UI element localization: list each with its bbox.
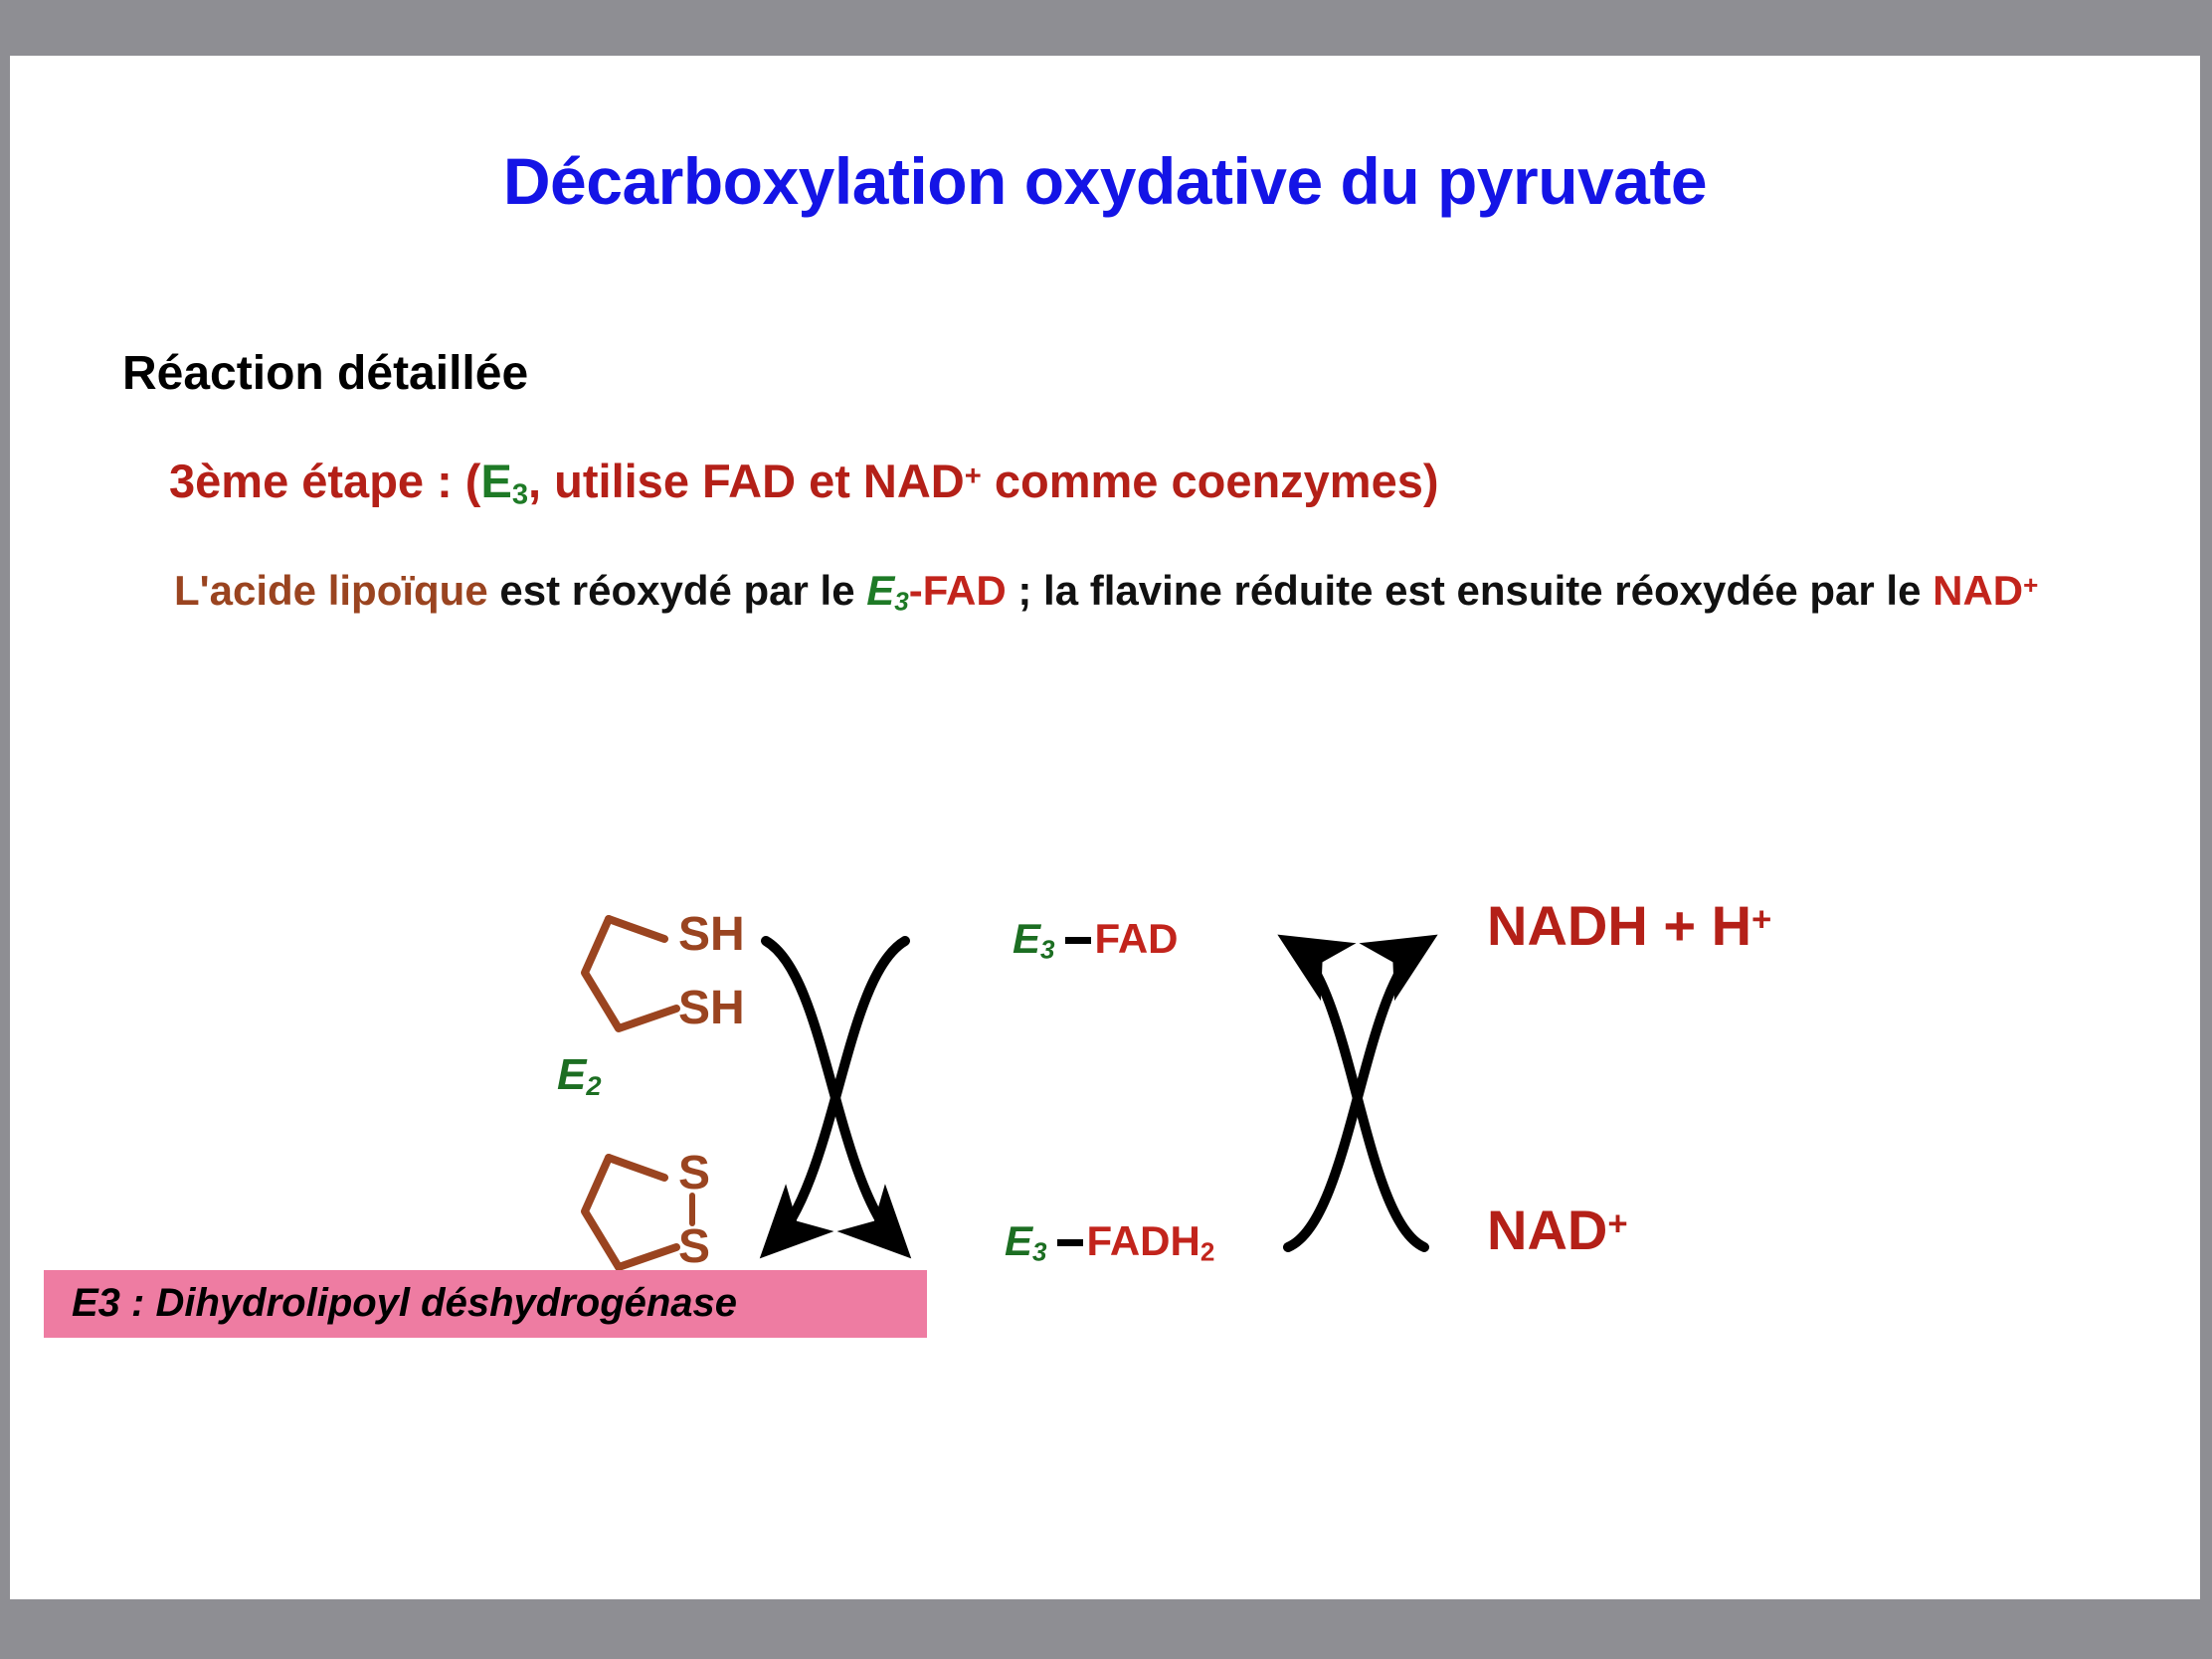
step-suffix: comme coenzymes) [982, 455, 1439, 507]
thiol-label-upper: SH [678, 907, 745, 962]
paragraph-fad: -FAD [909, 567, 1007, 614]
sulfur-label-lower: S [678, 1219, 710, 1274]
slide-canvas: Décarboxylation oxydative du pyruvate Ré… [10, 56, 2200, 1599]
paragraph-enzyme-letter: E [866, 567, 894, 614]
label-nad-text: NAD [1487, 1198, 1607, 1261]
e3-fad-enzyme: E3 [1013, 915, 1055, 962]
enzyme-e2-upper-subscript: 2 [586, 1070, 601, 1101]
enzyme-e2-upper: E2 [557, 1050, 602, 1102]
label-nadh: NADH + H+ [1487, 893, 1771, 958]
step-middle: , utilise FAD et NAD [528, 455, 965, 507]
step-prefix: 3ème étape : ( [169, 455, 480, 507]
step-enzyme-subscript: 3 [512, 478, 528, 510]
bond-dash-fadh2 [1057, 1239, 1083, 1246]
arrow-left-down-left [771, 941, 905, 1247]
dithiol-skeleton [585, 919, 676, 1028]
e3-fadh2-cofactor-subscript: 2 [1200, 1237, 1214, 1267]
step-enzyme-letter: E [480, 455, 511, 507]
footer-legend-badge: E3 : Dihydrolipoyl déshydrogénase [44, 1270, 927, 1338]
step-middle-superscript: + [965, 461, 982, 492]
paragraph-nad-superscript: + [2023, 570, 2038, 600]
paragraph-enzyme-subscript: 3 [894, 587, 908, 617]
label-nadh-superscript: + [1751, 900, 1771, 938]
e3-fad-enzyme-letter: E [1013, 915, 1040, 962]
e3-fad-cofactor: FAD [1095, 915, 1179, 962]
footer-legend-text: E3 : Dihydrolipoyl déshydrogénase [72, 1281, 737, 1326]
paragraph-enzyme-e3: E3 [866, 567, 909, 614]
paragraph-rest: ; la flavine réduite est ensuite réoxydé… [1007, 567, 1933, 614]
e3-fadh2-enzyme: E3 [1005, 1217, 1047, 1264]
e3-fadh2-enzyme-letter: E [1005, 1217, 1032, 1264]
section-heading: Réaction détaillée [122, 346, 528, 401]
label-nadh-text: NADH + H [1487, 894, 1751, 957]
bond-dash-fad [1065, 937, 1091, 944]
thiol-label-lower: SH [678, 981, 745, 1035]
page-title: Décarboxylation oxydative du pyruvate [10, 143, 2200, 219]
label-nad: NAD+ [1487, 1198, 1628, 1262]
disulfide-skeleton [585, 1158, 676, 1267]
arrow-right-up-left [1291, 943, 1424, 1247]
e3-fadh2-enzyme-subscript: 3 [1032, 1237, 1046, 1267]
label-e3-fadh2: E3FADH2 [1005, 1217, 1214, 1268]
e3-fadh2-cofactor: FADH2 [1087, 1217, 1215, 1264]
enzyme-e2-upper-letter: E [557, 1050, 586, 1099]
paragraph-mid: est réoxydé par le [488, 567, 867, 614]
e3-fad-enzyme-subscript: 3 [1040, 935, 1054, 965]
label-nad-superscript: + [1607, 1204, 1627, 1242]
paragraph-lipoic-acid: L'acide lipoïque [174, 567, 488, 614]
sulfur-label-upper: S [678, 1146, 710, 1200]
e3-fadh2-cofactor-text: FADH [1087, 1217, 1200, 1264]
step-heading: 3ème étape : (E3, utilise FAD et NAD+ co… [169, 454, 1439, 511]
paragraph-nad-text: NAD [1933, 567, 2023, 614]
label-e3-fad: E3FAD [1013, 915, 1179, 966]
paragraph-nad: NAD+ [1933, 567, 2038, 614]
body-paragraph: L'acide lipoïque est réoxydé par le E3-F… [174, 561, 2064, 621]
step-enzyme-e3: E3 [480, 455, 528, 507]
